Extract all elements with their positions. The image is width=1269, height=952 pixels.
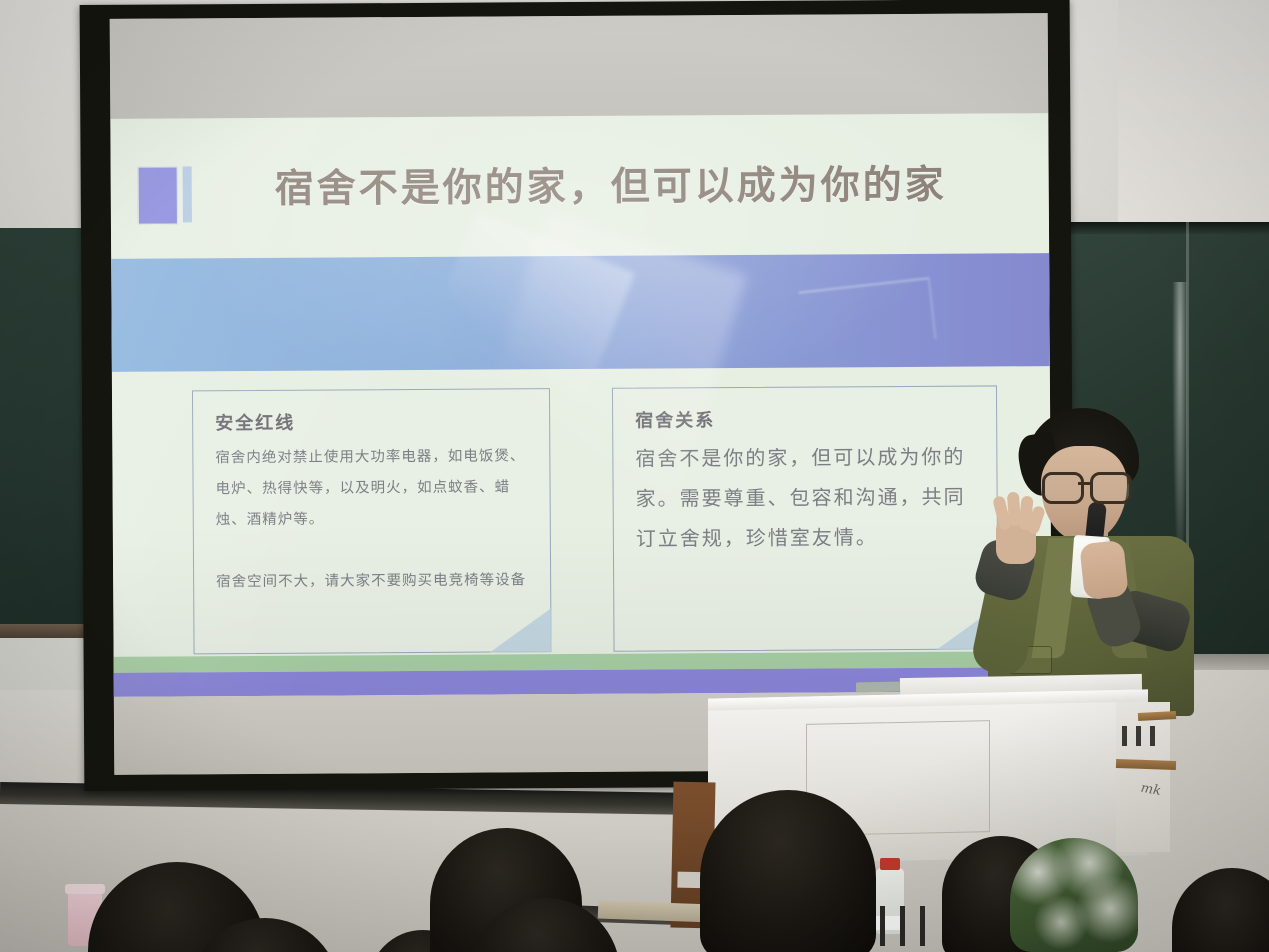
projection-screen-frame: 宿舍不是你的家，但可以成为你的家 安全红线 宿舍内绝对禁止使用大功率电器，如电饭… (80, 0, 1075, 791)
rack-bar (900, 906, 905, 946)
projection-screen-surface: 宿舍不是你的家，但可以成为你的家 安全红线 宿舍内绝对禁止使用大功率电器，如电饭… (110, 13, 1053, 775)
rack-bar (880, 906, 885, 946)
box-left-paragraph-1: 宿舍内绝对禁止使用大功率电器，如电饭煲、电炉、热得快等，以及明火，如点蚊香、蜡烛… (215, 441, 538, 536)
box-left-paragraph-2: 宿舍空间不大，请大家不要购买电竞椅等设备 (216, 565, 538, 598)
rack-bar (920, 906, 925, 946)
slide-content-box-left: 安全红线 宿舍内绝对禁止使用大功率电器，如电饭煲、电炉、热得快等，以及明火，如点… (192, 388, 552, 654)
podium-side-face (1116, 702, 1170, 852)
box-left-heading: 安全红线 (215, 409, 295, 435)
presenter-hand-left-gesture (988, 494, 1044, 566)
slide-accent-square (138, 166, 178, 224)
audience-head (700, 790, 876, 952)
presenter-hand-right (1079, 540, 1129, 600)
chalk-piece (856, 682, 900, 693)
glasses-icon (1040, 472, 1132, 498)
glasses-lens-right (1090, 472, 1132, 504)
box-right-paragraph-1: 宿舍不是你的家，但可以成为你的家。需要尊重、包容和沟通，共同订立舍规，珍惜室友情… (635, 437, 966, 559)
slide-accent-bar (183, 166, 192, 222)
podium-vent-slot (1136, 726, 1141, 746)
fold-triangle (489, 608, 551, 652)
box-right-heading: 宿舍关系 (635, 406, 715, 432)
podium-vent-slot (1122, 726, 1127, 746)
bottle-cap (880, 858, 900, 870)
box-left-folded-corner (489, 608, 551, 652)
glasses-bridge (1078, 482, 1092, 485)
projected-slide: 宿舍不是你的家，但可以成为你的家 安全红线 宿舍内绝对禁止使用大功率电器，如电饭… (110, 113, 1052, 697)
band-scratch-mark (798, 277, 936, 353)
podium-vent-slot (1150, 726, 1155, 746)
screen-blank-area-top (110, 13, 1049, 121)
cup-lid (65, 884, 105, 894)
glasses-lens-left (1042, 472, 1084, 504)
slide-decorative-band (111, 253, 1050, 372)
blackboard-top-edge (1068, 222, 1269, 234)
slide-title: 宿舍不是你的家，但可以成为你的家 (231, 153, 991, 214)
lecture-hall-photo: 宿舍不是你的家，但可以成为你的家 安全红线 宿舍内绝对禁止使用大功率电器，如电饭… (0, 0, 1269, 952)
slide-content-box-right: 宿舍关系 宿舍不是你的家，但可以成为你的家。需要尊重、包容和沟通，共同订立舍规，… (612, 385, 999, 651)
